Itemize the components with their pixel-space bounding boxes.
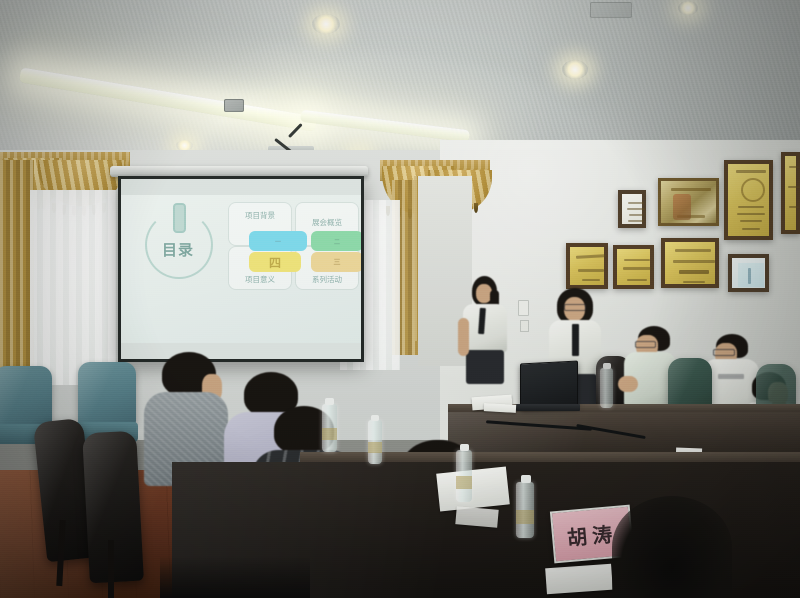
document-back-2 [484,403,516,413]
curtain-drape-left [0,160,34,385]
foreground-silhouette [612,496,732,598]
wall-switch-plate [518,300,529,316]
attendee-right-1-glasses-icon [635,341,656,348]
wall-plaque-certificate-small [618,190,646,228]
wall-plaque-award-3 [661,238,719,288]
waiting-chair-teal-2 [78,362,136,426]
recessed-downlight-2 [562,60,588,79]
slide-swatch-number-2: 二 [334,237,340,246]
projection-screen: 目录 项目背景 展会概览 项目意义 系列活动 一 [118,176,364,362]
presenter-1-skirt [466,350,504,384]
foreground-silhouette-2 [160,556,310,598]
presenter-1 [456,276,512,396]
presenter-2-tie [572,324,579,356]
attendee-right-1-arm [618,376,638,392]
presenter-1-arm [458,318,469,356]
slide-swatch-3: 四 [249,252,301,272]
slide-quadrant-label-4: 系列活动 [296,274,358,285]
wall-outlet [520,320,529,332]
water-bottle-1 [322,404,337,452]
slide-swatch-number-1: 一 [275,237,281,246]
wall-plaque-award-tall-1 [724,160,773,240]
wall-plaque-mirror [658,178,719,226]
toc-label: 目录 [148,239,208,260]
slide-swatch-2: 二 [311,231,361,251]
water-bottle-2 [368,420,382,464]
wall-plaque-award-1 [566,243,608,289]
water-bottle-3 [456,450,472,502]
ceiling-vent-2 [590,2,632,18]
slide-quadrant-label-1: 项目背景 [229,210,291,221]
laptop-base [516,404,580,411]
sheer-curtain-left [30,190,116,385]
wall-plaque-award-tall-2 [781,152,800,234]
recessed-downlight-1 [312,14,340,34]
document-front-2 [545,564,613,595]
chair-leg-2 [108,540,114,598]
slide-quadrant-label-3: 项目意义 [229,274,291,285]
slide-swatch-1: 一 [249,231,307,251]
waiting-chair-teal-1 [0,366,52,428]
attendee-right-2-glasses-icon [713,349,735,356]
water-bottle-5 [600,368,613,408]
laptop-screen [520,360,578,409]
power-button-stem-icon [173,203,186,233]
projection-screen-surface: 目录 项目背景 展会概览 项目意义 系列活动 一 [121,179,361,359]
slide-swatch-4: 三 [311,252,361,272]
slide-swatch-number-3: 四 [269,254,281,271]
document-front-3 [455,506,498,528]
water-bottle-4 [516,482,534,538]
wall-plaque-certificate-blue [728,254,769,292]
slide-quadrant-label-2: 展会概览 [296,217,358,228]
wall-plaque-award-2 [613,245,654,289]
attendee-right-2-shirt-print [718,374,744,379]
conference-room-photo: 目录 项目背景 展会概览 项目意义 系列活动 一 [0,0,800,598]
ceiling-vent [224,99,244,112]
presenter-2-glasses-icon [564,304,586,311]
recessed-downlight-5 [678,1,698,15]
slide-swatch-number-4: 三 [334,257,341,267]
document-front-1 [436,466,510,511]
presentation-slide: 目录 项目背景 展会概览 项目意义 系列活动 一 [121,195,361,343]
